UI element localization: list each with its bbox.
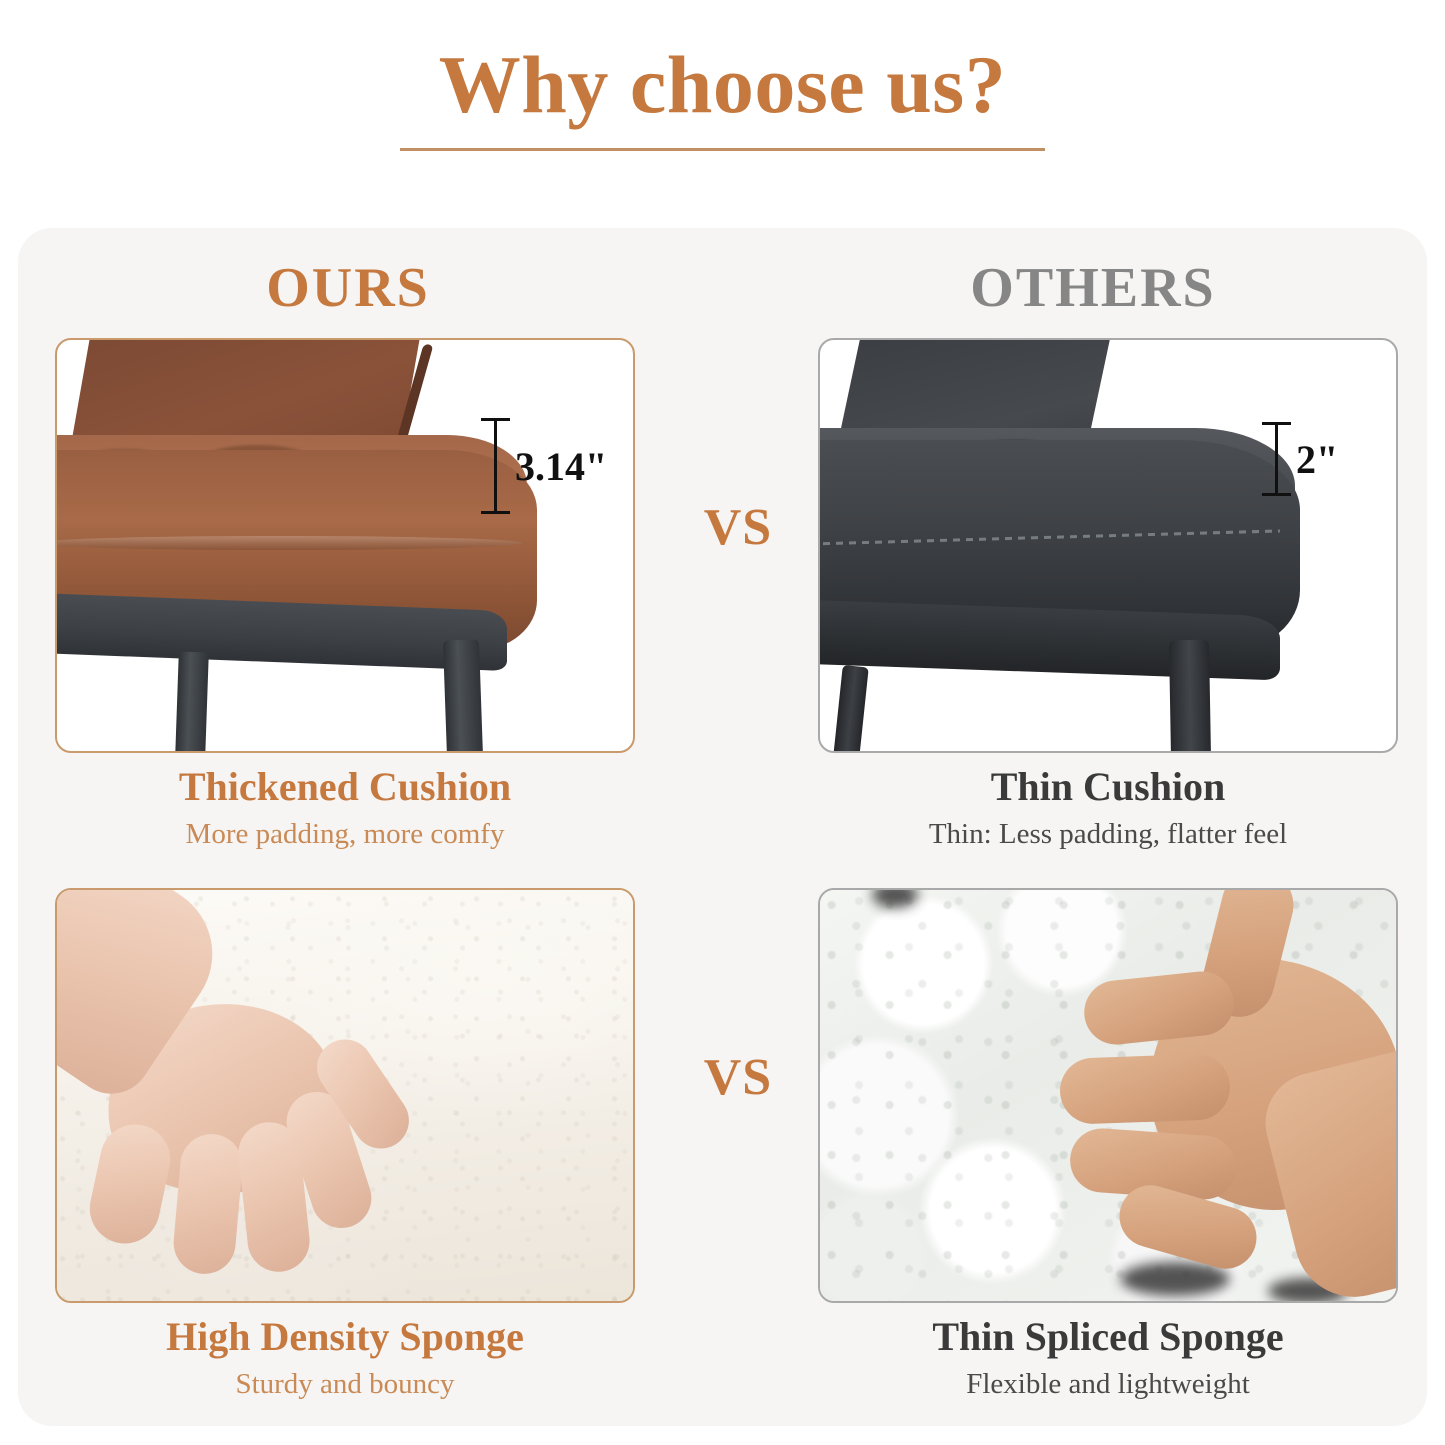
chair-leg-side bbox=[1169, 640, 1211, 753]
hand-pressing-fiber bbox=[950, 888, 1398, 1303]
caption-title: Thin Cushion bbox=[818, 763, 1398, 811]
black-stool-illustration bbox=[820, 340, 1396, 751]
card-ours-sponge bbox=[55, 888, 635, 1303]
card-others-sponge bbox=[818, 888, 1398, 1303]
comparison-panel: OURS OTHERS bbox=[18, 228, 1427, 1426]
photo-ours-sponge bbox=[55, 888, 635, 1303]
dimension-line bbox=[494, 418, 497, 514]
photo-others-sponge bbox=[818, 888, 1398, 1303]
photo-ours-cushion: 3.14" bbox=[55, 338, 635, 753]
caption-subtitle: Flexible and lightweight bbox=[818, 1365, 1398, 1404]
dimension-label: 2" bbox=[1296, 436, 1338, 483]
dimension-marker-ours-cushion: 3.14" bbox=[494, 418, 607, 514]
vs-badge-sponge: VS bbox=[663, 1048, 813, 1107]
photo-others-cushion: 2" bbox=[818, 338, 1398, 753]
title-divider bbox=[400, 148, 1045, 151]
card-others-cushion: 2" bbox=[818, 338, 1398, 753]
caption-ours-sponge: High Density Sponge Sturdy and bouncy bbox=[55, 1313, 635, 1404]
middle-finger bbox=[1059, 1053, 1231, 1125]
caption-subtitle: Thin: Less padding, flatter feel bbox=[818, 815, 1398, 854]
page-title: Why choose us? bbox=[439, 44, 1006, 126]
vs-badge-cushion: VS bbox=[663, 498, 813, 557]
card-ours-cushion: 3.14" bbox=[55, 338, 635, 753]
caption-subtitle: Sturdy and bouncy bbox=[55, 1365, 635, 1404]
caption-ours-cushion: Thickened Cushion More padding, more com… bbox=[55, 763, 635, 854]
caption-subtitle: More padding, more comfy bbox=[55, 815, 635, 854]
caption-others-cushion: Thin Cushion Thin: Less padding, flatter… bbox=[818, 763, 1398, 854]
column-heading-ours: OURS bbox=[18, 250, 678, 326]
caption-title: Thin Spliced Sponge bbox=[818, 1313, 1398, 1361]
comparison-row-sponge: VS High Density Sponge bbox=[18, 888, 1427, 1408]
comparison-row-cushion: 3.14" VS bbox=[18, 338, 1427, 858]
page-header: Why choose us? bbox=[0, 0, 1445, 205]
dimension-marker-others-cushion: 2" bbox=[1275, 422, 1338, 496]
chair-leg-side bbox=[443, 639, 483, 753]
column-heading-others: OTHERS bbox=[763, 250, 1423, 326]
chair-seat-piping bbox=[55, 536, 522, 550]
chair-leg-front bbox=[175, 652, 209, 753]
caption-title: High Density Sponge bbox=[55, 1313, 635, 1361]
thumb bbox=[83, 1118, 176, 1250]
dimension-label: 3.14" bbox=[515, 443, 607, 490]
brown-stool-illustration bbox=[57, 340, 633, 751]
column-headings: OURS OTHERS bbox=[18, 250, 1427, 326]
index-finger bbox=[171, 1132, 245, 1277]
hand-pressing-foam bbox=[55, 888, 477, 1303]
chair-leg-front bbox=[833, 665, 868, 753]
caption-title: Thickened Cushion bbox=[55, 763, 635, 811]
dimension-line bbox=[1275, 422, 1278, 496]
caption-others-sponge: Thin Spliced Sponge Flexible and lightwe… bbox=[818, 1313, 1398, 1404]
